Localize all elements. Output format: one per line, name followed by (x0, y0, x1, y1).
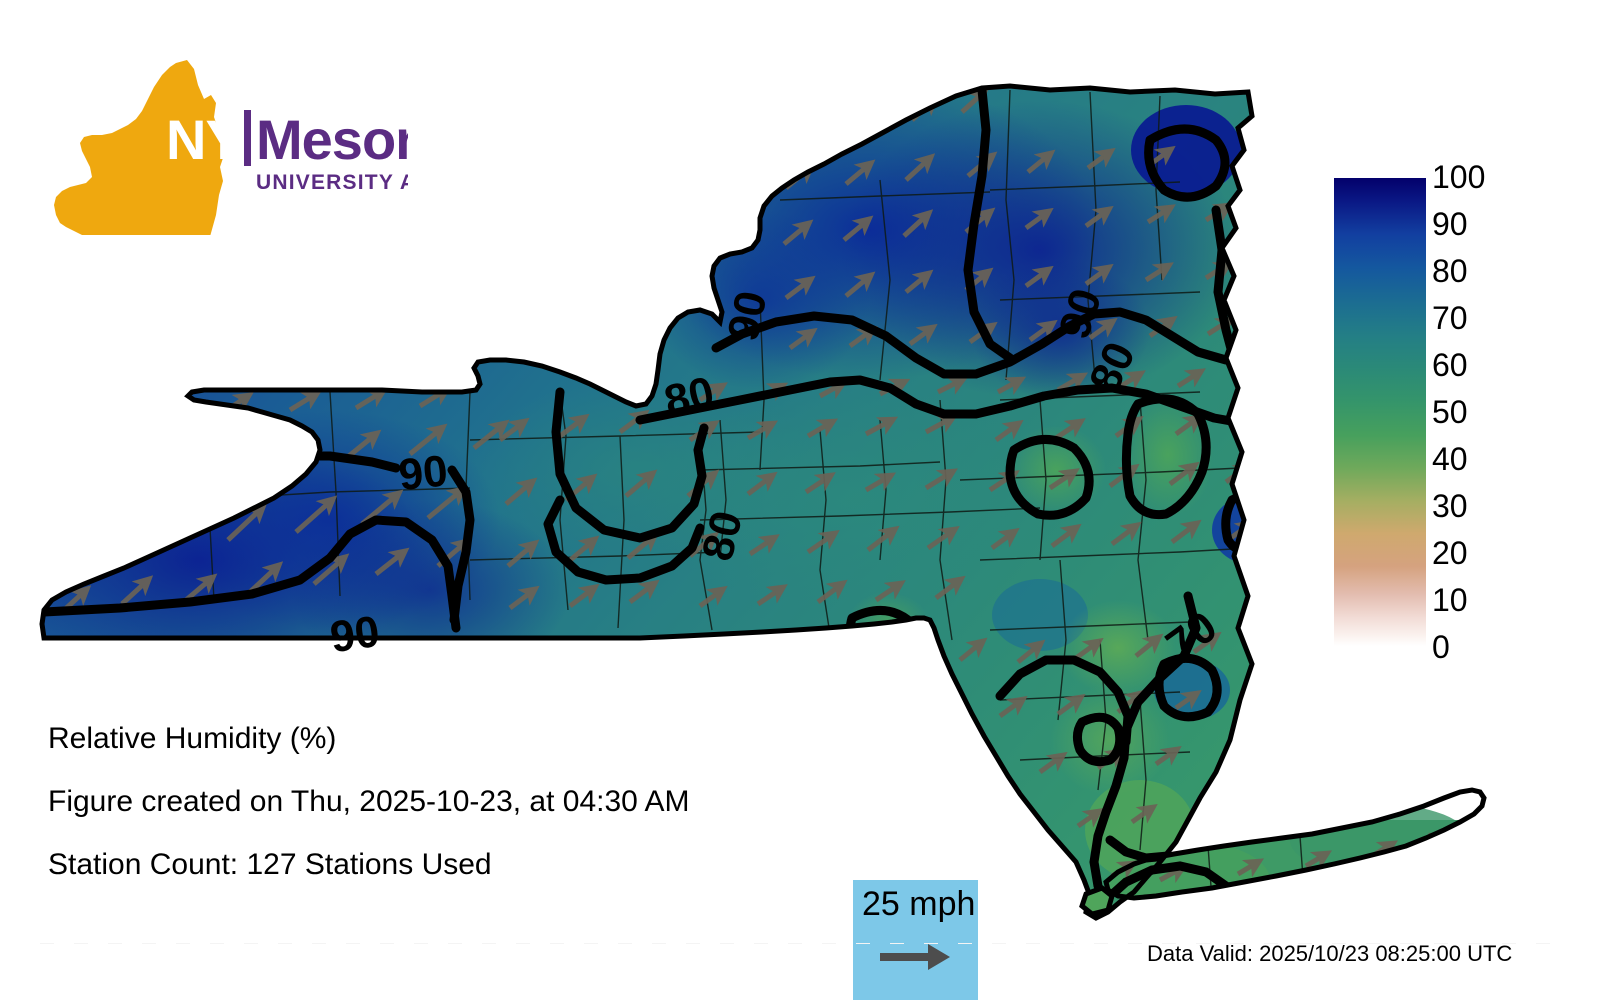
contour-lines-long-island (1106, 866, 1238, 900)
contour-label-80: 80 (1080, 335, 1145, 400)
data-valid-text: Data Valid: 2025/10/23 08:25:00 UTC (1147, 942, 1512, 966)
contour-label-90: 90 (396, 446, 450, 500)
colorbar-gradient (1334, 178, 1426, 646)
colorbar-tick-20: 20 (1432, 537, 1468, 569)
colorbar-tick-0: 0 (1432, 631, 1450, 663)
figure-canvas: NYS Mesonet UNIVERSITY AT ALBANY (0, 0, 1600, 1000)
colorbar-tick-100: 100 (1432, 161, 1485, 193)
logo-divider (244, 110, 251, 166)
variable-title: Relative Humidity (%) (48, 722, 336, 756)
contour-label-90: 90 (327, 607, 382, 662)
long-island-fill (1090, 804, 1510, 920)
contour-label-80: 80 (693, 506, 752, 565)
contour-label-80: 80 (660, 367, 719, 426)
wind-vector-field-long-island (1160, 836, 1444, 880)
colorbar-tick-90: 90 (1432, 208, 1468, 240)
colorbar-tick-50: 50 (1432, 396, 1468, 428)
colorbar-tick-40: 40 (1432, 443, 1468, 475)
arrow-right-icon (880, 942, 952, 972)
colorbar-tick-30: 30 (1432, 490, 1468, 522)
staten-island-outline (1082, 888, 1112, 914)
colorbar-tick-80: 80 (1432, 255, 1468, 287)
logo-mesonet-text: Mesonet (256, 108, 408, 171)
colorbar-ticks: 100 90 80 70 60 50 40 30 20 10 0 (1432, 156, 1542, 668)
logo-subtitle-text: UNIVERSITY AT ALBANY (256, 171, 408, 194)
contour-label-90: 90 (1050, 283, 1112, 345)
contour-label-70: 70 (1157, 602, 1225, 670)
station-count-text: Station Count: 127 Stations Used (48, 848, 492, 882)
colorbar: 100 90 80 70 60 50 40 30 20 10 0 (1334, 178, 1426, 646)
colorbar-tick-70: 70 (1432, 302, 1468, 334)
contour-labels: 90 90 80 80 90 80 70 90 (327, 283, 1226, 671)
colorbar-tick-10: 10 (1432, 584, 1468, 616)
wind-speed-legend: 25 mph (853, 880, 978, 1000)
long-island-county-boundaries (1208, 836, 1304, 900)
contour-label-90: 90 (719, 287, 777, 345)
wind-legend-label: 25 mph (862, 886, 975, 922)
figure-created-text: Figure created on Thu, 2025-10-23, at 04… (48, 785, 690, 819)
long-island-outline (1106, 790, 1484, 898)
nys-mesonet-logo: NYS Mesonet UNIVERSITY AT ALBANY (48, 55, 408, 235)
colorbar-tick-60: 60 (1432, 349, 1468, 381)
